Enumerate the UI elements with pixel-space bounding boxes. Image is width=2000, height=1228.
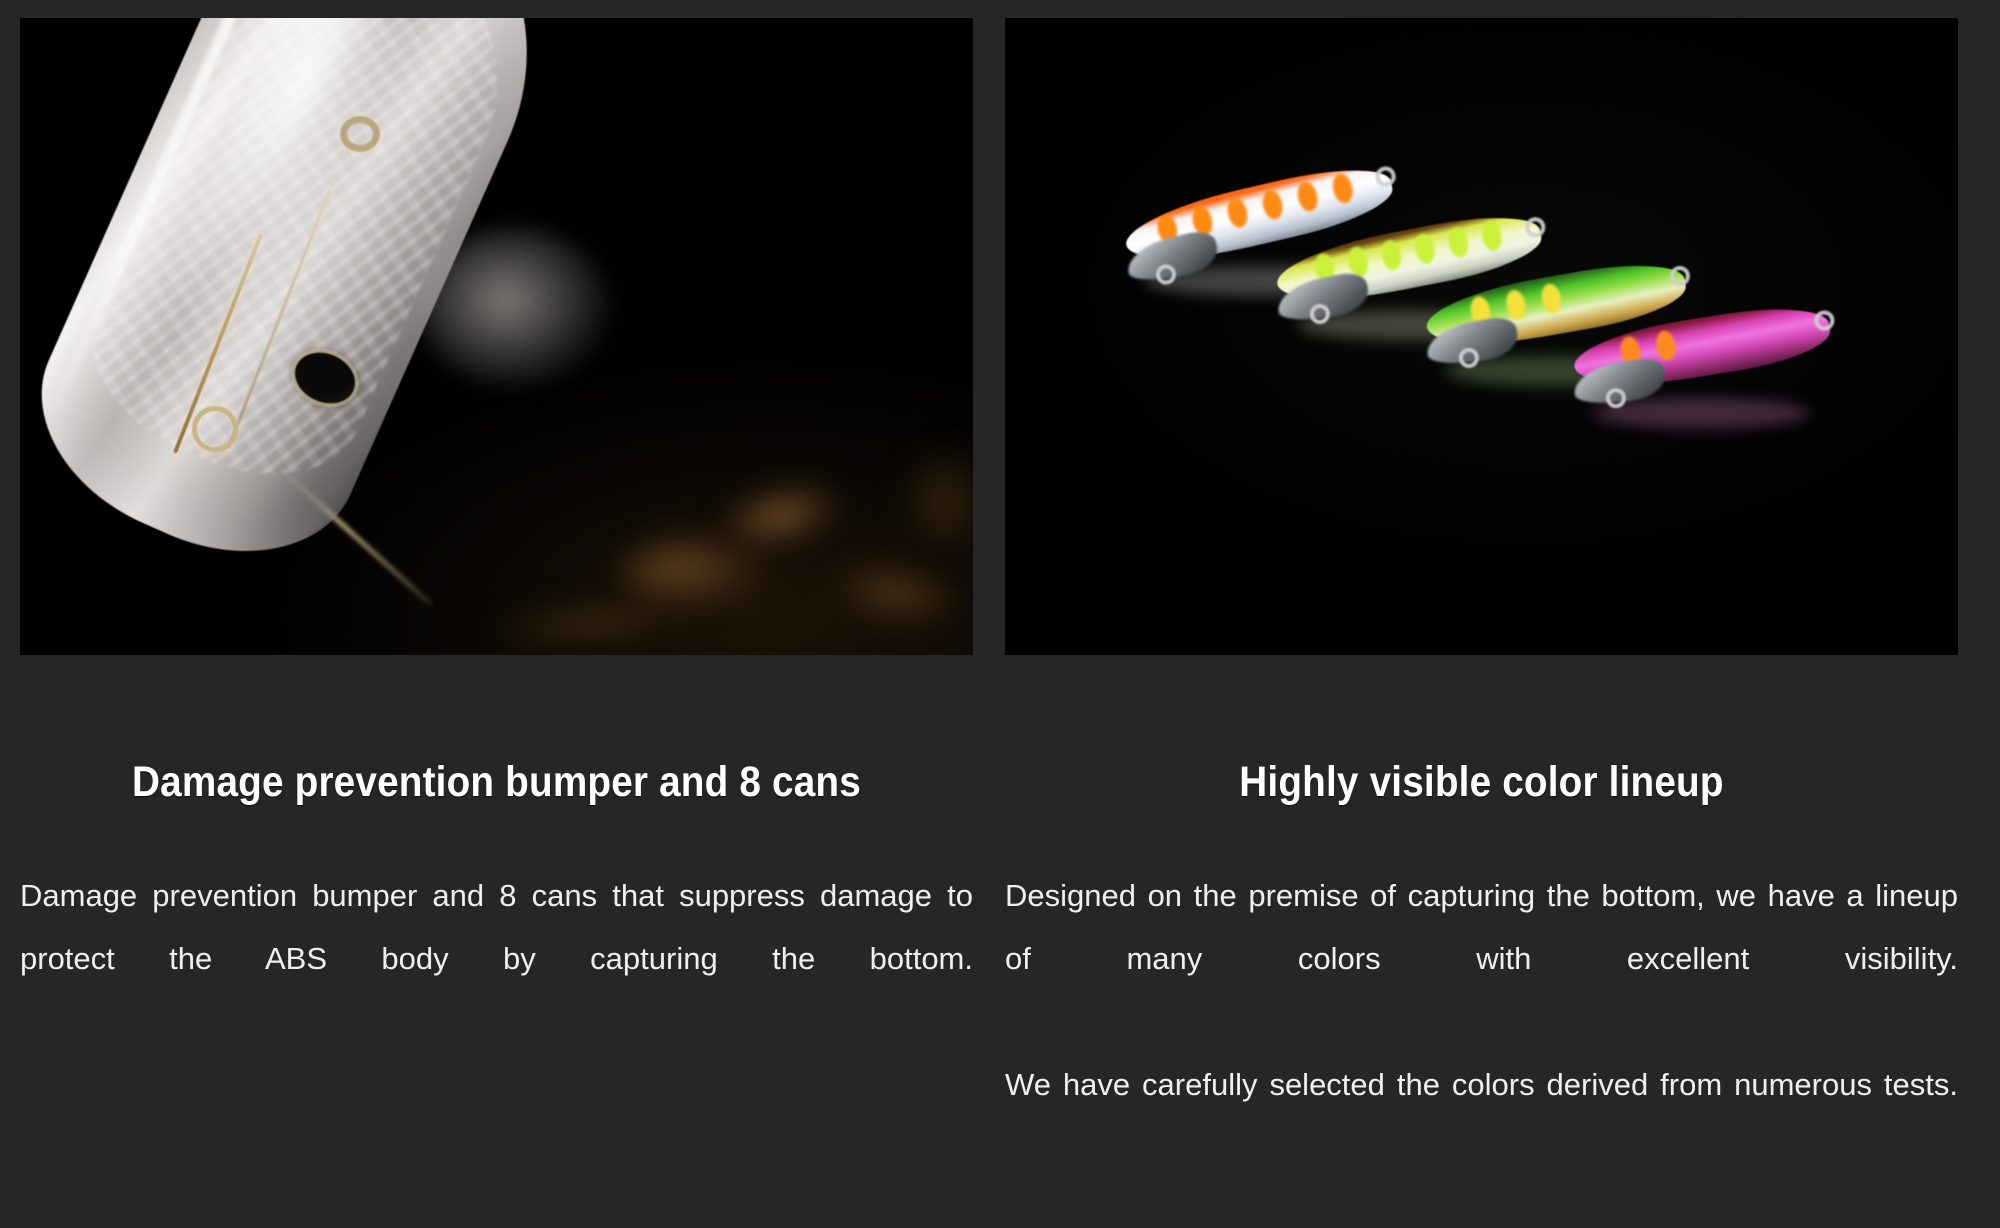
feature-paragraph: Designed on the premise of capturing the…	[1005, 864, 1958, 1053]
feature-body-right: Designed on the premise of capturing the…	[1005, 864, 1958, 1179]
damage-prevention-bumper-photo	[20, 18, 973, 655]
feature-body-left: Damage prevention bumper and 8 cans that…	[20, 864, 973, 1053]
feature-column-right: Highly visible color lineup Designed on …	[1005, 18, 1958, 1179]
feature-columns: Damage prevention bumper and 8 cans Dama…	[0, 0, 2000, 1179]
feature-column-left: Damage prevention bumper and 8 cans Dama…	[20, 18, 973, 1179]
photo-background	[1005, 18, 1958, 655]
photo-background	[20, 18, 973, 655]
feature-paragraph: Damage prevention bumper and 8 cans that…	[20, 864, 973, 1053]
feature-heading-right: Highly visible color lineup	[1053, 655, 1911, 806]
background-bokeh	[620, 538, 770, 612]
feature-paragraph: We have carefully selected the colors de…	[1005, 1053, 1958, 1179]
attachment-eyelet-icon	[340, 116, 380, 152]
background-bokeh	[826, 554, 963, 632]
color-lineup-photo	[1005, 18, 1958, 655]
split-ring-loop-icon	[192, 406, 238, 452]
background-bokeh	[900, 448, 973, 558]
feature-heading-left: Damage prevention bumper and 8 cans	[68, 655, 926, 806]
lure-reflection	[1593, 398, 1809, 428]
product-feature-page: Damage prevention bumper and 8 cans Dama…	[0, 0, 2000, 1228]
